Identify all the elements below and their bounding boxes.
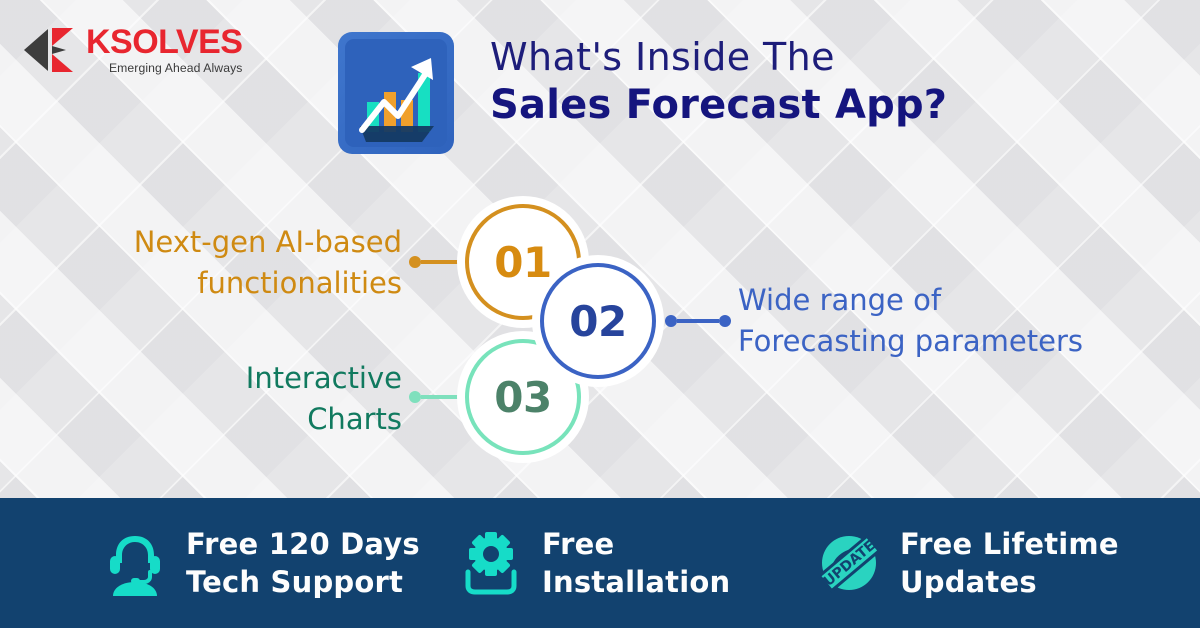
- growth-chart-icon: [336, 30, 456, 156]
- feature-label-03: Interactive Charts: [20, 358, 402, 440]
- footer-item-installation: Free Installation: [460, 498, 790, 628]
- page-title-line2: Sales Forecast App?: [490, 82, 1130, 128]
- ksolves-logo-mark: [22, 25, 78, 75]
- footer-text-tech-support: Free 120 Days Tech Support: [186, 525, 420, 602]
- footer-item-2-line1: Free: [542, 525, 730, 563]
- feature-label-01: Next-gen AI-based functionalities: [20, 222, 402, 304]
- footer-item-1-line2: Tech Support: [186, 563, 420, 601]
- connector-dot-left: [409, 256, 421, 268]
- ksolves-logo[interactable]: KSOLVES Emerging Ahead Always: [22, 22, 237, 78]
- feature-label-02-line2: Forecasting parameters: [738, 321, 1188, 362]
- logo-name: KSOLVES: [86, 25, 242, 59]
- feature-label-02-line1: Wide range of: [738, 280, 1188, 321]
- feature-number-03: 03: [494, 373, 551, 422]
- feature-label-02: Wide range of Forecasting parameters: [738, 280, 1188, 362]
- footer-item-lifetime-updates: UPDATE Free Lifetime Updates: [818, 498, 1148, 628]
- footer-item-3-line1: Free Lifetime: [900, 525, 1119, 563]
- feature-number-02: 02: [569, 297, 626, 346]
- footer-item-3-line2: Updates: [900, 563, 1119, 601]
- headset-support-icon: [104, 530, 166, 596]
- footer-item-tech-support: Free 120 Days Tech Support: [104, 498, 434, 628]
- feature-label-01-line1: Next-gen AI-based: [20, 222, 402, 263]
- connector-dot-left: [665, 315, 677, 327]
- footer-bar: Free 120 Days Tech Support Free Installa…: [0, 498, 1200, 628]
- page-title-line1: What's Inside The: [490, 38, 1130, 78]
- feature-label-03-line1: Interactive: [20, 358, 402, 399]
- logo-wordmark: KSOLVES Emerging Ahead Always: [86, 25, 242, 74]
- connector-dot-left: [409, 391, 421, 403]
- connector-feature-02: [665, 315, 731, 327]
- connector-dot-right: [719, 315, 731, 327]
- feature-ring-02: 02: [540, 263, 656, 379]
- connector-line: [677, 319, 719, 323]
- feature-label-01-line2: functionalities: [20, 263, 402, 304]
- footer-text-installation: Free Installation: [542, 525, 730, 602]
- logo-tagline: Emerging Ahead Always: [86, 62, 242, 74]
- footer-item-1-line1: Free 120 Days: [186, 525, 420, 563]
- feature-number-01: 01: [494, 238, 551, 287]
- features-stage: Next-gen AI-based functionalities Wide r…: [0, 170, 1200, 490]
- update-badge-icon: UPDATE: [818, 530, 880, 596]
- feature-badge-02[interactable]: 02: [532, 255, 664, 387]
- gear-installation-icon: [460, 530, 522, 596]
- footer-text-lifetime-updates: Free Lifetime Updates: [900, 525, 1119, 602]
- feature-label-03-line2: Charts: [20, 399, 402, 440]
- footer-item-2-line2: Installation: [542, 563, 730, 601]
- header-title-block: What's Inside The Sales Forecast App?: [490, 38, 1130, 128]
- infographic-canvas: KSOLVES Emerging Ahead Always What's Ins…: [0, 0, 1200, 628]
